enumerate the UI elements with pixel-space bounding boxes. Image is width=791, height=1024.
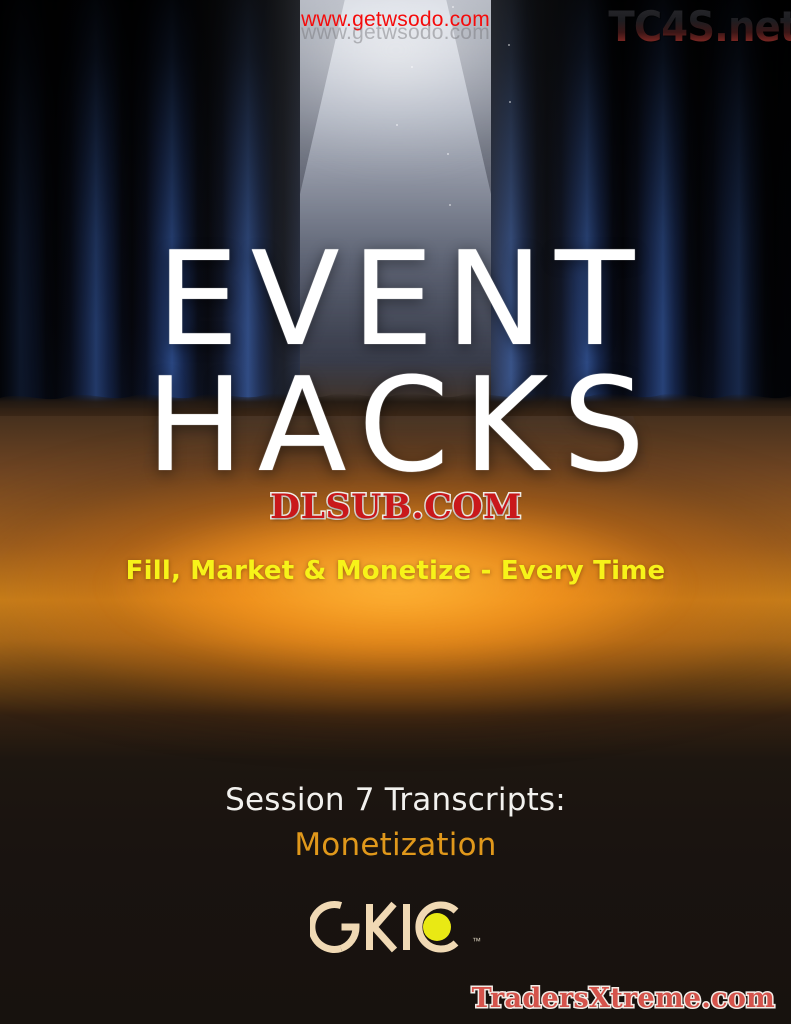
dust-sparkle — [411, 66, 413, 68]
poster-title: EVENT HACKS — [0, 236, 791, 488]
poster-cover: EVENT HACKS Fill, Market & Monetize - Ev… — [0, 0, 791, 1024]
poster-tagline: Fill, Market & Monetize - Every Time — [0, 556, 791, 586]
trademark-symbol: ™ — [472, 936, 481, 946]
gkic-logo: ™ — [0, 896, 791, 958]
dust-sparkle — [508, 44, 510, 46]
session-info: Session 7 Transcripts: Monetization — [0, 782, 791, 863]
dust-sparkle — [509, 101, 511, 103]
stage-floor-glow-core — [0, 520, 791, 680]
dust-sparkle — [396, 124, 398, 126]
session-subtitle: Monetization — [0, 827, 791, 863]
dust-sparkle — [447, 153, 449, 155]
gkic-logo-mark — [310, 896, 470, 958]
dust-sparkle — [449, 204, 451, 206]
dust-sparkle — [452, 6, 454, 8]
title-line-event: EVENT — [0, 236, 791, 362]
session-title: Session 7 Transcripts: — [0, 782, 791, 818]
title-line-hacks: HACKS — [0, 362, 791, 488]
